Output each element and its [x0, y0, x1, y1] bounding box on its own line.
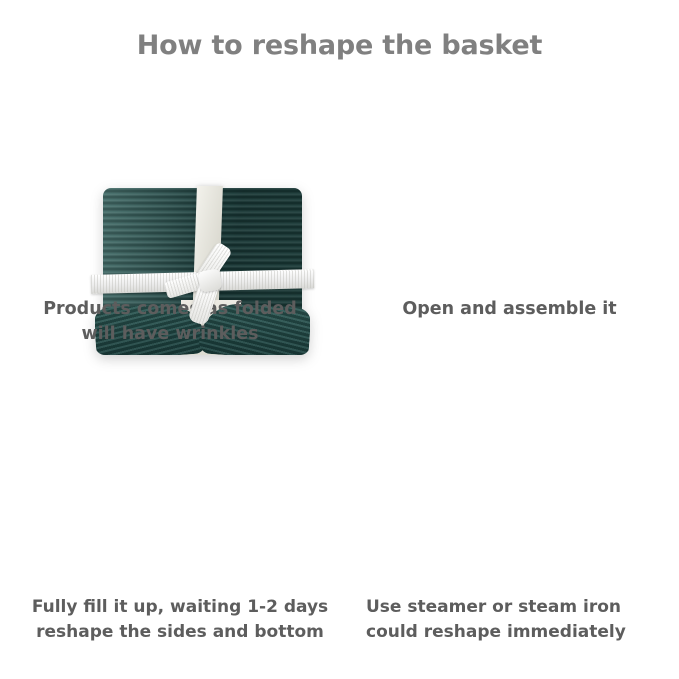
step-4-caption: Use steamer or steam iron could reshape … — [362, 595, 679, 645]
ribbon-knot — [197, 268, 222, 293]
step-2-caption: Open and assemble it — [340, 297, 679, 322]
step-1-caption: Products comes as folded will have wrink… — [0, 297, 340, 347]
step-3-image — [0, 345, 340, 590]
step-1-image — [0, 80, 340, 290]
step-4-image — [340, 345, 679, 590]
step-3-caption: Fully fill it up, waiting 1-2 days resha… — [0, 595, 360, 645]
step-2-image — [340, 80, 679, 290]
rope-handle-front — [672, 141, 679, 291]
page-title: How to reshape the basket — [0, 30, 679, 61]
infographic-page: How to reshape the basket Products comes… — [0, 0, 679, 679]
